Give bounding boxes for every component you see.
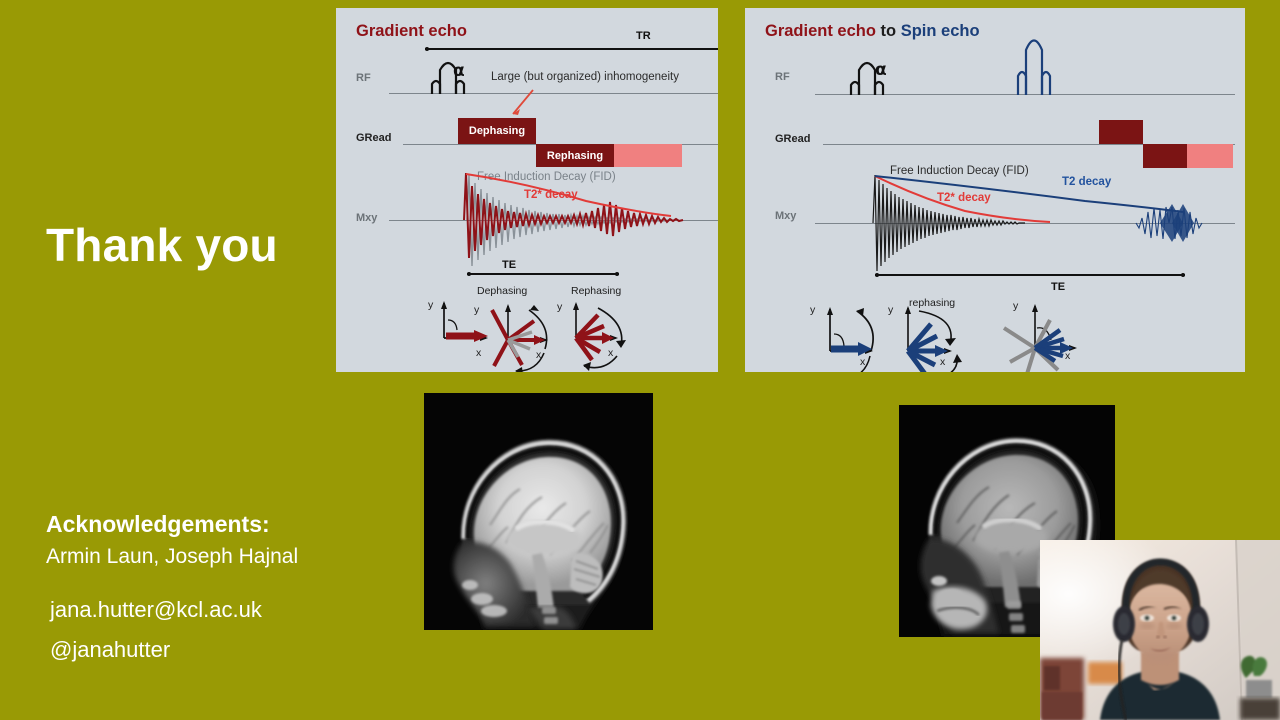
row-label-gread: GRead <box>356 132 391 144</box>
te-label: TE <box>502 259 516 271</box>
signal-waveforms-right <box>745 8 1245 372</box>
mxy-baseline <box>389 220 718 221</box>
gradient-block-readout <box>614 144 682 167</box>
acknowledgements-names: Armin Laun, Joseph Hajnal <box>46 545 298 569</box>
panel-right-title: Gradient echo to Spin echo <box>765 22 980 41</box>
acknowledgements-heading: Acknowledgements: <box>46 511 270 538</box>
vector1-axis-x: x <box>476 347 481 359</box>
gradient-echo-to-spin-echo-diagram: Gradient echo to Spin echo RF α GRead Mx… <box>745 8 1245 372</box>
t2star-decay-label-right: T2* decay <box>937 192 991 204</box>
vector-label-rephasing: Rephasing <box>571 285 621 297</box>
panel-left-title: Gradient echo <box>356 22 467 41</box>
sagittal-brain-mri-left <box>424 393 653 630</box>
row-label-rf-right: RF <box>775 71 790 83</box>
row-label-rf: RF <box>356 72 371 84</box>
vector2-axis-y-right: y <box>888 304 893 316</box>
gradient-block-dephasing: Dephasing <box>458 118 536 144</box>
vector3-axis-y: y <box>557 301 562 313</box>
gradient-echo-diagram: Gradient echo TR RF α Large (but organiz… <box>336 8 718 372</box>
panel-right-title-part1: Gradient echo <box>765 22 876 40</box>
vector-label-rephasing-right: rephasing <box>909 297 955 309</box>
fid-label: Free Induction Decay (FID) <box>477 171 616 183</box>
panel-right-title-part2: Spin echo <box>901 22 980 40</box>
row-label-gread-right: GRead <box>775 133 810 145</box>
gradient-block-rephasing-right <box>1143 144 1187 168</box>
gradient-block-dephasing-label: Dephasing <box>458 125 536 137</box>
vector1-axis-y: y <box>428 299 433 311</box>
inhomogeneity-annotation: Large (but organized) inhomogeneity <box>491 71 679 83</box>
vector3-axis-x-right: x <box>1065 350 1070 362</box>
gradient-block-rephasing-label: Rephasing <box>536 150 614 162</box>
vector-label-dephasing: Dephasing <box>477 285 527 297</box>
mxy-baseline-right <box>815 223 1235 224</box>
vector3-axis-y-right: y <box>1013 300 1018 312</box>
te-span-dot-start <box>467 272 471 276</box>
tr-span-dot-start <box>425 47 429 51</box>
contact-email: jana.hutter@kcl.ac.uk <box>50 597 262 623</box>
te-span-dot-start-right <box>875 273 879 277</box>
panel-right-title-connector: to <box>876 22 901 40</box>
tr-label: TR <box>636 30 651 42</box>
presenter-webcam-overlay[interactable] <box>1040 540 1280 720</box>
vector1-axis-y-right: y <box>810 304 815 316</box>
rf-pulses-right <box>745 8 1245 372</box>
twitter-handle: @janahutter <box>50 637 170 663</box>
gradient-block-dephasing-right <box>1099 120 1143 144</box>
fid-label-right: Free Induction Decay (FID) <box>890 165 1029 177</box>
te-span-dot-end-right <box>1181 273 1185 277</box>
vector2-axis-y: y <box>474 304 479 316</box>
te-span-dot-end <box>615 272 619 276</box>
vector2-axis-x: x <box>536 349 541 361</box>
te-span-line <box>467 273 619 275</box>
tr-span-line <box>425 48 718 50</box>
vector3-axis-x: x <box>608 347 613 359</box>
row-label-mxy-right: Mxy <box>775 210 796 222</box>
vector2-axis-x-right: x <box>940 356 945 368</box>
te-span-line-right <box>875 274 1185 276</box>
mri-left-render <box>424 393 653 630</box>
page-title: Thank you <box>46 220 278 271</box>
t2-decay-label: T2 decay <box>1062 176 1111 188</box>
webcam-render <box>1040 540 1280 720</box>
te-label-right: TE <box>1051 281 1065 293</box>
rf-baseline-right <box>815 94 1235 95</box>
gradient-block-rephasing: Rephasing <box>536 144 614 167</box>
presentation-slide: Thank you Acknowledgements: Armin Laun, … <box>0 0 1280 720</box>
row-label-mxy: Mxy <box>356 212 377 224</box>
t2star-decay-label: T2* decay <box>524 189 578 201</box>
rf-baseline <box>389 93 718 94</box>
flip-angle-label: α <box>453 61 465 81</box>
gradient-block-readout-right <box>1187 144 1233 168</box>
magnetisation-vector-diagrams-right <box>745 8 1245 372</box>
flip-angle-label-right: α <box>875 60 887 80</box>
vector1-axis-x-right: x <box>860 356 865 368</box>
